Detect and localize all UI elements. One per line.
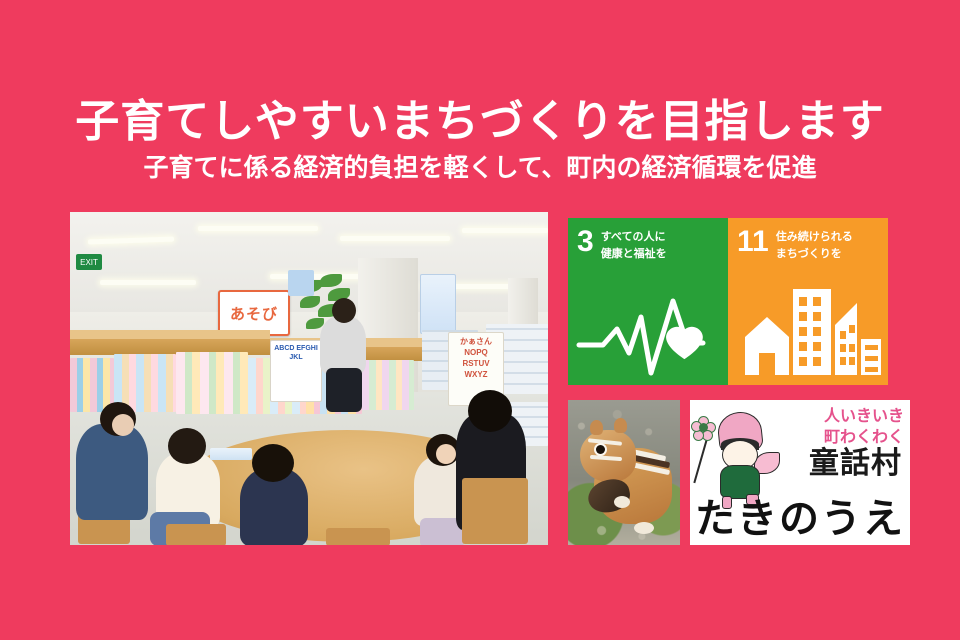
person-head (332, 298, 356, 323)
chair (462, 478, 528, 544)
sdg-badge-3: 3 すべての人に 健康と福祉を (568, 218, 728, 385)
page-subtitle: 子育てに係る経済的負担を軽くして、町内の経済循環を促進 (0, 151, 960, 185)
exit-sign: EXIT (76, 254, 102, 270)
person-head (168, 428, 206, 464)
person-head (468, 390, 512, 432)
logo-tagline-line2: 町わくわく (776, 427, 904, 448)
chipmunk-ear (614, 418, 627, 433)
sdg-11-label-line1: 住み続けられる (776, 228, 853, 245)
chair (326, 528, 390, 545)
person-legs (326, 368, 362, 412)
sakura-flower-icon (692, 416, 716, 440)
person-adult-left (76, 424, 148, 520)
sdg-11-label: 住み続けられる まちづくりを (776, 228, 853, 262)
chipmunk-paw (634, 522, 654, 534)
book-on-table (210, 448, 252, 460)
bookshelf-top (70, 330, 270, 339)
sdg-11-header: 11 住み続けられる まちづくりを (728, 218, 888, 262)
sdg-3-artwork (568, 281, 728, 379)
sdg-3-label: すべての人に 健康と福祉を (601, 228, 667, 262)
sdg-11-label-line2: まちづくりを (776, 245, 853, 262)
wall-poster (288, 270, 314, 296)
library-photo: EXIT あそび ABCD EFGHI JKL (70, 212, 548, 545)
person-face (112, 414, 134, 436)
ceiling-light (100, 280, 196, 285)
chair (166, 524, 226, 545)
person-head (252, 444, 294, 482)
sdg-11-number: 11 (737, 228, 769, 256)
chipmunk-eye (596, 445, 605, 454)
person-standing (320, 316, 366, 374)
sdg-badge-11: 11 住み続けられる まちづくりを (728, 218, 888, 385)
sdg-3-label-line1: すべての人に (601, 228, 667, 245)
chipmunk-photo (568, 400, 680, 545)
sdg-3-number: 3 (577, 228, 594, 256)
books-row (176, 352, 248, 414)
logo-tagline-line1: 人いきいき (776, 406, 904, 427)
poster-root: 子育てしやすいまちづくりを目指します 子育てに係る経済的負担を軽くして、町内の経… (0, 0, 960, 640)
page-title: 子育てしやすいまちづくりを目指します (0, 96, 960, 148)
heartbeat-ecg-icon (573, 287, 723, 379)
headline-block: 子育てしやすいまちづくりを目指します 子育てに係る経済的負担を軽くして、町内の経… (0, 96, 960, 185)
ceiling-light (340, 236, 450, 241)
logo-tagline: 人いきいき 町わくわく (776, 406, 904, 448)
city-buildings-icon (733, 281, 883, 379)
abc-chart: ABCD EFGHI JKL (270, 340, 322, 402)
person-face (436, 444, 456, 464)
sdg-3-label-line2: 健康と福祉を (601, 245, 667, 262)
town-logo: 人いきいき 町わくわく 童話村 たきのうえ (690, 400, 910, 545)
wall-poster (420, 274, 456, 334)
chipmunk-ear (590, 420, 603, 435)
ceiling-light (198, 226, 318, 231)
fairy-character (698, 410, 780, 510)
sdg-3-header: 3 すべての人に 健康と福祉を (568, 218, 728, 262)
logo-takinoue: たきのうえ (690, 497, 910, 541)
logo-dowamura: 童話村 (809, 448, 902, 480)
sdg-11-artwork (728, 281, 888, 379)
ceiling-light (462, 228, 548, 233)
chipmunk-paw (614, 496, 630, 508)
books-row (362, 360, 414, 410)
